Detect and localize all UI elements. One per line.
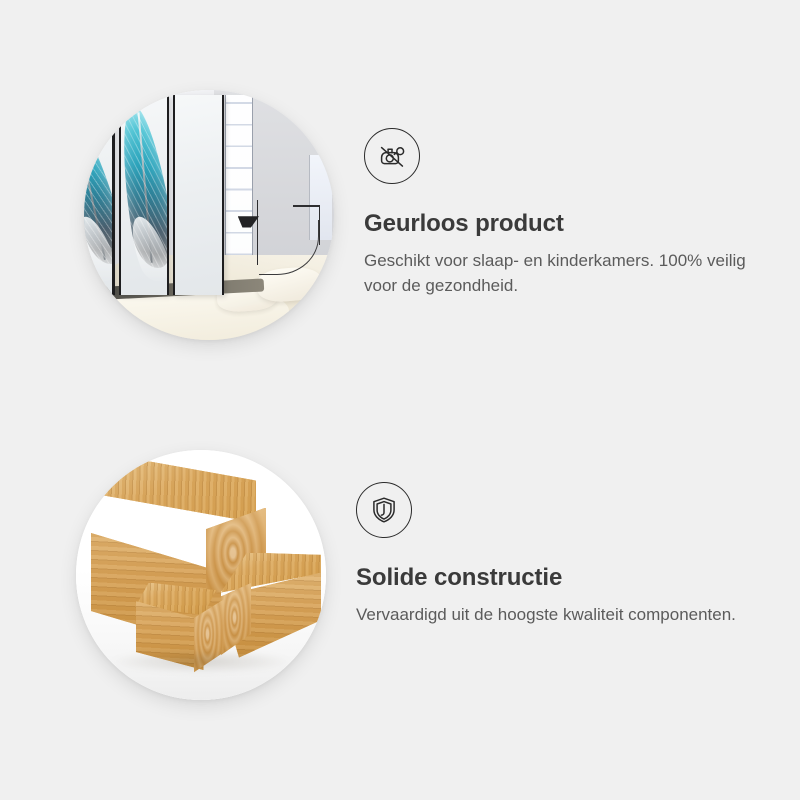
art-panel-2 <box>119 95 170 295</box>
feature-description: Vervaardigd uit de hoogste kwaliteit com… <box>356 602 748 627</box>
feature-image-solid-construction <box>76 450 326 700</box>
feature-block-odourless: Geurloos product Geschikt voor slaap- en… <box>0 78 800 353</box>
feature-description: Geschikt voor slaap- en kinderkamers. 10… <box>364 248 756 298</box>
feature-block-solid-construction: Solide constructie Vervaardigd uit de ho… <box>0 440 800 715</box>
feature-copy-odourless: Geurloos product Geschikt voor slaap- en… <box>334 128 800 299</box>
wall-lamp-arm <box>293 205 321 207</box>
shield-glyph <box>367 493 401 527</box>
feature-title: Geurloos product <box>364 210 800 238</box>
feature-image-odourless <box>84 90 334 340</box>
no-fragrance-icon <box>364 128 420 184</box>
product-feature-panel: Geurloos product Geschikt voor slaap- en… <box>0 0 800 800</box>
no-fragrance-glyph <box>374 138 410 174</box>
window-left <box>225 95 253 275</box>
feather-art-triptych <box>84 95 224 295</box>
circular-photo-frame <box>84 90 334 340</box>
floor-lamp-pole <box>257 200 259 265</box>
wooden-beams-photo <box>76 450 326 700</box>
feature-copy-solid-construction: Solide constructie Vervaardigd uit de ho… <box>326 482 800 627</box>
art-panel-1 <box>84 95 115 295</box>
circular-photo-frame <box>76 450 326 700</box>
art-panel-3 <box>173 95 224 295</box>
feature-title: Solide constructie <box>356 564 800 592</box>
bedroom-feather-wall-art-photo <box>84 90 334 340</box>
shield-icon <box>356 482 412 538</box>
beam-shadow <box>111 650 291 673</box>
